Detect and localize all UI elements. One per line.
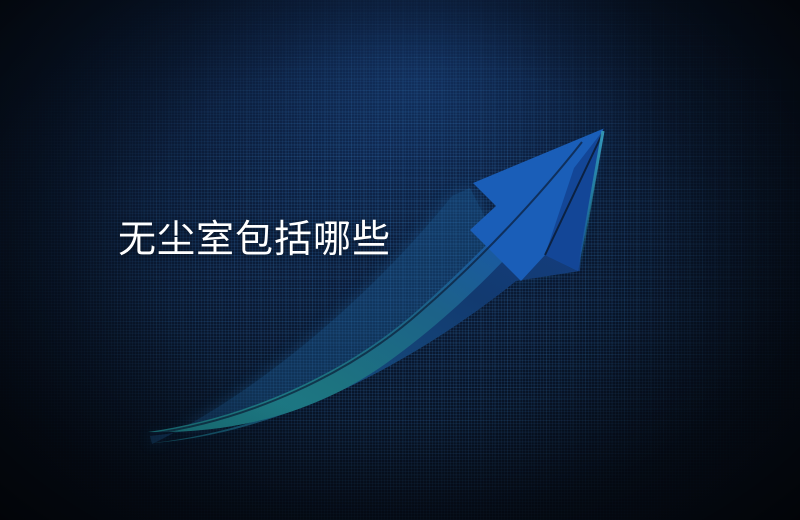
- poster-canvas: 无尘室包括哪些: [0, 0, 800, 520]
- page-title: 无尘室包括哪些: [118, 218, 391, 262]
